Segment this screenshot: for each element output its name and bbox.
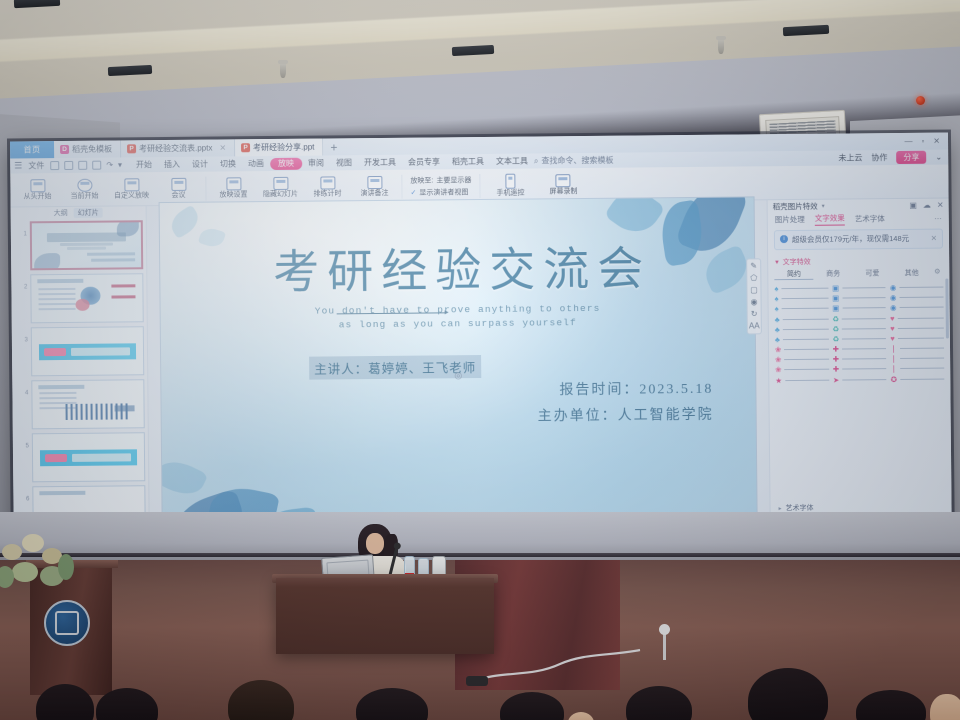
category-business[interactable]: 商务	[814, 269, 853, 280]
powerpoint-icon: P	[241, 143, 250, 152]
effect-glyph: ➤	[833, 376, 839, 384]
effect-glyph: ♥	[890, 335, 895, 343]
sprinkler-icon	[280, 62, 286, 78]
effect-glyph: ♻	[832, 325, 839, 333]
display-label: 放映至:	[410, 175, 433, 185]
ribbon-tab-start[interactable]: 开始	[130, 157, 158, 172]
audience	[0, 624, 960, 720]
presenter-notes-icon	[367, 176, 382, 189]
print-preview-icon[interactable]	[78, 161, 87, 170]
search-placeholder: 查找命令、搜索模板	[541, 155, 613, 167]
slide-title[interactable]: 考研经验交流会	[160, 231, 755, 303]
effect-glyph: ✪	[891, 376, 897, 384]
gallery-cell[interactable]: ✚ ✚ ✚	[833, 345, 887, 373]
ribbon-button-from-current[interactable]: 当前开始	[61, 179, 107, 200]
window-controls: — ▫ ✕	[904, 133, 948, 150]
show-settings-icon	[226, 177, 241, 190]
ribbon-button-screen-record[interactable]: 屏幕录制	[537, 174, 589, 195]
gallery-cell[interactable]: ♻ ♻ ♻	[832, 315, 886, 343]
ribbon-tab-animation[interactable]: 动画	[242, 156, 270, 171]
hide-slide-icon	[273, 177, 288, 190]
display-value: 主要显示器	[436, 175, 471, 185]
task-pane-actions: ▣ ☁ ✕	[909, 201, 943, 210]
document-tab-docer[interactable]: D 稻壳免模板	[54, 140, 121, 158]
display-target-row[interactable]: 放映至: 主要显示器	[410, 175, 471, 186]
slide-number: 5	[23, 433, 29, 449]
save-icon[interactable]	[50, 161, 59, 170]
tab-label: 考研经验分享.ppt	[253, 142, 314, 154]
redo-icon[interactable]: ↷	[106, 161, 113, 170]
eye-icon[interactable]: ◎	[454, 370, 462, 381]
audience-head	[356, 688, 428, 720]
undo-icon[interactable]	[92, 161, 101, 170]
effect-glyph: ❘	[890, 345, 896, 353]
tab-image-processing[interactable]: 图片处理	[775, 214, 805, 225]
workspace: 大纲 幻灯片 1	[11, 199, 952, 543]
search-icon: ⌕	[534, 156, 539, 166]
effect-glyph: ✚	[833, 346, 839, 354]
gallery-cell[interactable]: ♥ ♥ ♥	[890, 314, 944, 342]
chevron-down-icon: ▾	[775, 258, 779, 266]
slide-thumbnail-1[interactable]	[30, 220, 143, 270]
close-icon[interactable]: ✕	[937, 201, 944, 210]
thumbnail-row[interactable]: 5	[23, 432, 145, 482]
ribbon-button-phone-remote[interactable]: 手机遥控	[484, 173, 536, 196]
effect-glyph: ♣	[775, 316, 780, 324]
slide-thumbnail-pane: 大纲 幻灯片 1	[11, 206, 150, 542]
screenshot-icon[interactable]: ▣	[909, 201, 917, 210]
ribbon-tab-developer[interactable]: 开发工具	[358, 155, 402, 170]
slide-number: 3	[22, 327, 28, 343]
gallery-cell[interactable]: ♣ ♣ ♣	[775, 315, 829, 343]
tab-text-effects[interactable]: 文字效果	[815, 213, 845, 226]
quick-access-toolbar: ↷ ▾	[50, 160, 122, 170]
effect-glyph: ❀	[775, 356, 781, 364]
ribbon-separator	[479, 173, 480, 197]
gear-icon[interactable]: ⚙	[931, 268, 943, 279]
audience-head	[96, 688, 158, 720]
button-label: 从头开始	[23, 193, 51, 200]
lecture-hall-photo: 首页 D 稻壳免模板 P 考研经验交流表.pptx ✕ P 考研经验分享.ppt…	[0, 0, 960, 720]
display-settings-group: 放映至: 主要显示器 ✓ 显示演讲者视图	[406, 175, 475, 198]
effect-glyph: ♠	[775, 305, 779, 313]
ribbon-tab-design[interactable]: 设计	[186, 157, 214, 172]
effect-glyph: ▣	[832, 305, 839, 313]
ribbon-tab-review[interactable]: 审阅	[302, 155, 330, 170]
thumbnail-row[interactable]: 2	[21, 273, 143, 323]
ribbon-left-group: ☰ 文件	[14, 160, 44, 171]
effect-glyph: ♻	[832, 315, 839, 323]
promo-notice[interactable]: i 超级会员仅179元/年，现仅需148元 ✕	[774, 229, 943, 251]
refresh-icon[interactable]: ↻	[751, 310, 758, 318]
slide-number: 4	[22, 380, 28, 396]
wps-presentation-window: 首页 D 稻壳免模板 P 考研经验交流表.pptx ✕ P 考研经验分享.ppt…	[10, 133, 952, 565]
emergency-light-icon	[916, 96, 925, 105]
share-button[interactable]: 分享	[896, 151, 926, 164]
effect-glyph: ▣	[832, 295, 839, 303]
ribbon-tab-docer-tools[interactable]: 稻壳工具	[446, 154, 490, 169]
meeting-icon	[171, 178, 186, 191]
chevron-down-icon[interactable]: ▾	[822, 203, 825, 210]
custom-show-icon	[124, 178, 139, 191]
ribbon-button-custom-show[interactable]: 自定义放映	[108, 178, 154, 199]
effect-glyph: ❘	[891, 365, 897, 373]
ribbon-tab-transition[interactable]: 切换	[214, 156, 242, 171]
slide-report-time[interactable]: 报告时间：2023.5.18	[559, 377, 713, 398]
button-label: 屏幕录制	[549, 188, 577, 195]
thumbnail-row[interactable]: 3	[22, 326, 144, 376]
slide-number: 2	[21, 274, 27, 290]
slide-number: 1	[21, 221, 27, 237]
effect-glyph: ♠	[774, 285, 778, 293]
tabs-more-icon[interactable]: ⋯	[934, 214, 942, 223]
pen-icon[interactable]: ✎	[750, 262, 757, 270]
slide-thumbnail-4[interactable]	[31, 379, 144, 429]
gallery-cell[interactable]: ♠ ♠ ♠	[774, 285, 828, 313]
effect-glyph: ★	[775, 377, 782, 385]
audience-head	[228, 680, 294, 720]
ribbon-tab-member[interactable]: 会员专享	[402, 154, 446, 169]
tab-outline[interactable]: 大纲	[54, 208, 68, 218]
task-pane-title: 稻壳图片特效	[773, 201, 818, 212]
category-cute[interactable]: 可爱	[853, 268, 892, 279]
button-label: 演讲备注	[360, 190, 388, 197]
sprinkler-icon	[718, 38, 724, 54]
button-label: 放映设置	[219, 191, 247, 198]
ribbon-separator	[205, 176, 206, 200]
presenter-view-checkbox[interactable]: ✓ 显示演讲者视图	[410, 187, 471, 198]
eye-icon[interactable]: ◉	[751, 298, 758, 306]
powerpoint-icon: P	[127, 144, 136, 153]
button-label: 隐藏幻灯片	[263, 191, 298, 198]
close-icon[interactable]: ✕	[219, 143, 226, 152]
info-icon: i	[780, 235, 788, 243]
gallery-cell[interactable]: ❘ ❘ ❘	[890, 345, 944, 373]
gallery-cell[interactable]: ◉ ◉ ◉	[890, 284, 944, 312]
ribbon-tab-slideshow[interactable]: 放映	[270, 157, 302, 169]
gallery-cell[interactable]: ➤	[833, 376, 887, 384]
effect-glyph: ◉	[890, 294, 897, 302]
audience-head	[626, 686, 692, 720]
tab-slides[interactable]: 幻灯片	[74, 208, 103, 218]
phone-remote-icon	[505, 174, 515, 189]
current-slide[interactable]: 考研经验交流会 You don't have to prove anything…	[160, 197, 757, 539]
print-icon[interactable]	[64, 161, 73, 170]
task-pane-tabs: 图片处理 文字效果 艺术字体 ⋯	[768, 212, 949, 227]
slide-host-org[interactable]: 主办单位：人工智能学院	[538, 403, 714, 425]
category-simple[interactable]: 简约	[774, 269, 813, 280]
audience-head	[930, 694, 960, 720]
effect-glyph: ◉	[890, 304, 897, 312]
section-label: 文字特效	[783, 257, 811, 267]
audience-head	[748, 668, 828, 720]
audience-head	[500, 692, 564, 720]
effect-glyph: ✚	[833, 366, 839, 374]
checkmark-icon: ✓	[410, 188, 416, 196]
collaborate-button[interactable]: 协作	[871, 152, 887, 163]
close-icon[interactable]: ✕	[931, 234, 937, 244]
hamburger-icon[interactable]: ☰	[14, 160, 22, 171]
tab-art-fonts[interactable]: 艺术字体	[855, 213, 885, 224]
slide-number: 6	[23, 486, 29, 502]
category-other[interactable]: 其他	[892, 268, 931, 279]
effect-glyph: ❀	[775, 366, 781, 374]
slide-thumbnail-5[interactable]	[32, 432, 145, 482]
effect-glyph: ♻	[833, 335, 840, 343]
ribbon-button-from-start[interactable]: 从头开始	[14, 179, 60, 200]
ribbon-button-hide-slide[interactable]: 隐藏幻灯片	[257, 177, 303, 198]
effect-glyph: ♣	[775, 326, 780, 334]
effect-glyph: ❀	[775, 346, 781, 354]
rehearse-timing-icon	[320, 176, 335, 189]
effect-glyph: ♥	[890, 325, 895, 333]
more-icon[interactable]: AA	[749, 322, 760, 330]
shape-icon[interactable]: ⬠	[750, 274, 757, 282]
wall-trim-line	[0, 553, 960, 557]
ribbon-button-meeting[interactable]: 会议	[155, 178, 201, 199]
ribbon-right-actions: 未上云 协作 分享 ⌄	[838, 151, 948, 165]
audience-head	[568, 712, 594, 720]
ribbon-separator	[401, 174, 402, 198]
effect-glyph: ♠	[775, 295, 779, 303]
ribbon-button-rehearse[interactable]: 排练计时	[304, 176, 350, 197]
button-label: 排练计时	[313, 190, 341, 197]
presenter-face	[366, 533, 384, 554]
slide-thumbnail-2[interactable]	[30, 273, 143, 323]
slide-thumbnail-3[interactable]	[31, 326, 144, 376]
crop-icon[interactable]: ▢	[750, 286, 758, 294]
screen-record-icon	[556, 174, 571, 187]
button-label: 当前开始	[70, 193, 98, 200]
slide-canvas-area: 考研经验交流会 You don't have to prove anything…	[147, 200, 770, 541]
audience-head	[856, 690, 926, 720]
thumbnail-row[interactable]: 4	[22, 379, 144, 429]
chevron-right-icon: ▸	[779, 505, 782, 512]
gallery-cell[interactable]: ❀ ❀ ❀	[775, 346, 829, 374]
promo-text: 超级会员仅179元/年，现仅需148元	[792, 234, 909, 245]
play-from-start-icon	[30, 179, 45, 192]
document-tab-ppt-active[interactable]: P 考研经验分享.ppt	[235, 139, 324, 157]
effect-glyph: ♥	[890, 315, 895, 323]
home-tab[interactable]: 首页	[10, 141, 54, 158]
ribbon-tab-text-tools[interactable]: 文本工具	[490, 153, 534, 168]
button-label: 会议	[171, 192, 185, 199]
gallery-cell[interactable]: ✪	[891, 375, 945, 383]
file-menu-button[interactable]: 文件	[28, 160, 44, 171]
close-window-icon[interactable]: ✕	[933, 137, 940, 146]
ribbon-tab-view[interactable]: 视图	[330, 155, 358, 170]
tab-label: 考研经验交流表.pptx	[139, 143, 212, 155]
effect-glyph: ❘	[890, 355, 896, 363]
document-tab-pptx[interactable]: P 考研经验交流表.pptx ✕	[121, 139, 235, 157]
flower-arrangement	[0, 524, 92, 596]
cloud-icon[interactable]: ☁	[923, 201, 931, 210]
canvas-float-toolbar[interactable]: ✎ ⬠ ▢ ◉ ↻ AA	[746, 258, 762, 334]
search-commands[interactable]: ⌕ 查找命令、搜索模板	[534, 155, 614, 167]
play-from-current-icon	[77, 179, 92, 192]
ribbon-button-show-settings[interactable]: 放映设置	[210, 177, 256, 198]
checkbox-label: 显示演讲者视图	[419, 187, 468, 197]
effect-glyph: ▣	[832, 285, 839, 293]
ribbon-tab-insert[interactable]: 插入	[158, 157, 186, 172]
ribbon-options-icon[interactable]: ⌄	[935, 153, 942, 162]
button-label: 手机遥控	[496, 190, 524, 197]
effect-glyph: ♣	[775, 336, 780, 344]
audience-head	[36, 684, 94, 720]
gallery-cell[interactable]: ★	[775, 376, 829, 384]
docer-icon: D	[60, 145, 69, 154]
button-label: 自定义放映	[114, 192, 149, 199]
customize-qat-icon[interactable]: ▾	[118, 160, 122, 169]
thumbnail-row[interactable]: 1	[21, 220, 143, 270]
gallery-cell[interactable]: ▣ ▣ ▣	[832, 284, 886, 312]
effect-glyph: ✚	[833, 356, 839, 364]
projection-screen: 首页 D 稻壳免模板 P 考研经验交流表.pptx ✕ P 考研经验分享.ppt…	[10, 133, 952, 565]
maximize-icon[interactable]: ▫	[921, 137, 924, 146]
right-task-pane: 稻壳图片特效 ▾ ▣ ☁ ✕ 图片处理 文字效果 艺术字体 ⋯	[767, 199, 952, 536]
ribbon-button-presenter-notes[interactable]: 演讲备注	[351, 176, 397, 197]
text-effect-gallery[interactable]: ♠ ♠ ♠ ▣ ▣ ▣ ◉ ◉ ◉	[768, 281, 950, 388]
task-pane-scrollbar[interactable]	[945, 279, 949, 339]
thumbnail-list[interactable]: 1	[11, 218, 149, 542]
tab-label: 稻壳免模板	[72, 144, 112, 155]
minimize-icon[interactable]: —	[904, 137, 912, 146]
new-tab-button[interactable]: +	[323, 138, 344, 155]
effect-glyph: ◉	[890, 284, 897, 292]
cloud-status[interactable]: 未上云	[838, 152, 862, 163]
